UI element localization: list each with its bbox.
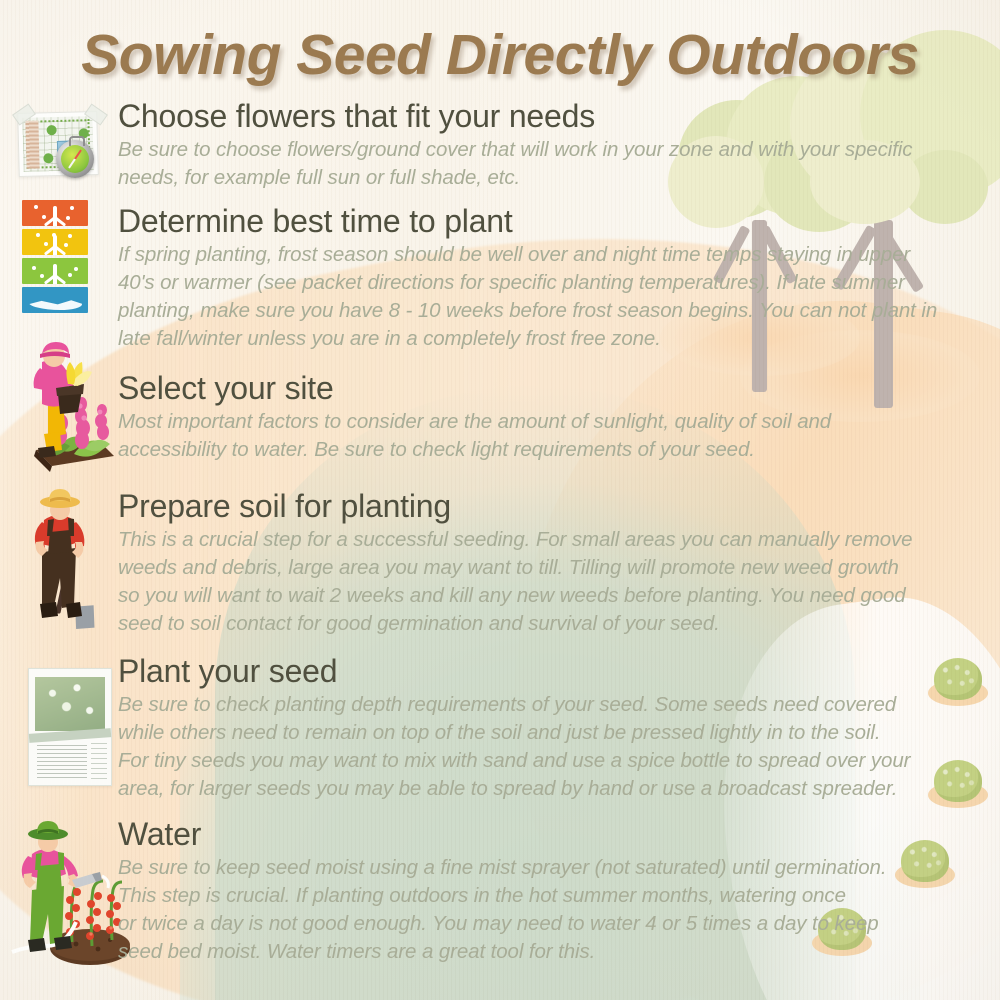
section-body: This is a crucial step for a successful … — [118, 526, 988, 639]
section-body: Be sure to check planting depth requirem… — [118, 691, 998, 804]
section-body: Most important factors to consider are t… — [118, 408, 978, 465]
body-line: seed bed moist. Water timers are a great… — [118, 938, 998, 966]
infographic-poster: Sowing Seed Directly Outdoors — [0, 0, 1000, 1000]
sections-container: Choose flowers that fit your needs Be su… — [0, 0, 1000, 1000]
section-prepare-soil: Prepare soil for planting This is a cruc… — [118, 490, 988, 639]
section-select-site: Select your site Most important factors … — [118, 372, 978, 464]
body-line: Most important factors to consider are t… — [118, 408, 978, 436]
section-heading: Choose flowers that fit your needs — [118, 100, 978, 134]
section-heading: Water — [118, 818, 998, 852]
body-line: late fall/winter unless you are in a com… — [118, 325, 978, 353]
body-line: This step is crucial. If planting outdoo… — [118, 882, 998, 910]
body-line: area, for larger seeds you may be able t… — [118, 775, 998, 803]
section-heading: Prepare soil for planting — [118, 490, 988, 524]
section-heading: Plant your seed — [118, 655, 998, 689]
section-body: Be sure to keep seed moist using a fine … — [118, 854, 998, 967]
body-line: Be sure to check planting depth requirem… — [118, 691, 998, 719]
body-line: Be sure to keep seed moist using a fine … — [118, 854, 998, 882]
body-line: Be sure to choose flowers/ground cover t… — [118, 136, 978, 164]
body-line: while others need to remain on top of th… — [118, 719, 998, 747]
page-title: Sowing Seed Directly Outdoors — [0, 22, 1000, 88]
section-water: Water Be sure to keep seed moist using a… — [118, 818, 998, 967]
section-plant-seed: Plant your seed Be sure to check plantin… — [118, 655, 998, 804]
body-line: accessibility to water. Be sure to check… — [118, 436, 978, 464]
body-line: so you will want to wait 2 weeks and kil… — [118, 582, 988, 610]
body-line: If spring planting, frost season should … — [118, 241, 978, 269]
section-heading: Determine best time to plant — [118, 205, 978, 239]
section-body: Be sure to choose flowers/ground cover t… — [118, 136, 978, 193]
body-line: weeds and debris, large area you may wan… — [118, 554, 988, 582]
body-line: seed to soil contact for good germinatio… — [118, 610, 988, 638]
section-body: If spring planting, frost season should … — [118, 241, 978, 354]
section-determine-time: Determine best time to plant If spring p… — [118, 205, 978, 354]
section-heading: Select your site — [118, 372, 978, 406]
body-line: planting, make sure you have 8 - 10 week… — [118, 297, 978, 325]
section-choose-flowers: Choose flowers that fit your needs Be su… — [118, 100, 978, 192]
body-line: For tiny seeds you may want to mix with … — [118, 747, 998, 775]
body-line: needs, for example full sun or full shad… — [118, 164, 978, 192]
body-line: 40's or warmer (see packet directions fo… — [118, 269, 978, 297]
body-line: This is a crucial step for a successful … — [118, 526, 988, 554]
body-line: or twice a day is not good enough. You m… — [118, 910, 998, 938]
